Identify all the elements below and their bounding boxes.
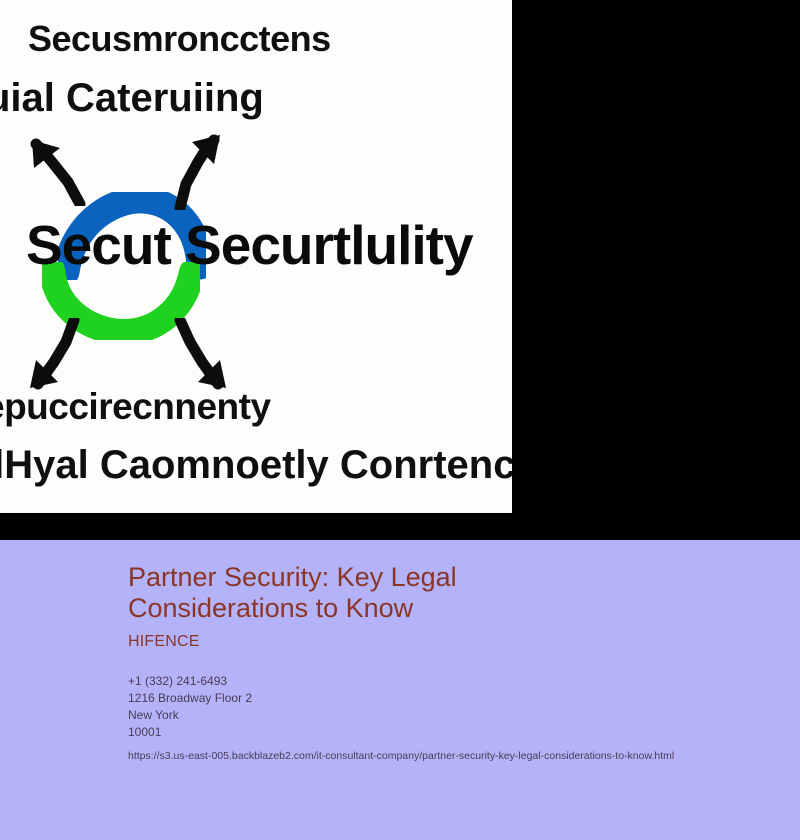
page-root: Secusmroncctens uial Cateruiing Secut Se… <box>0 0 800 840</box>
security-concept-diagram: Secusmroncctens uial Cateruiing Secut Se… <box>0 0 512 513</box>
arrow-up-right-icon <box>166 132 228 210</box>
arrow-up-left-icon <box>24 136 86 206</box>
diagram-bottom-label-1: epuccirecnnenty <box>0 386 271 428</box>
page-title: Partner Security: Key Legal Consideratio… <box>128 562 533 624</box>
contact-street: 1216 Broadway Floor 2 <box>128 690 768 707</box>
source-url-link[interactable]: https://s3.us-east-005.backblazeb2.com/i… <box>128 749 768 763</box>
brand-name: HIFENCE <box>128 633 768 651</box>
arrow-down-left-icon <box>22 318 84 392</box>
contact-city: New York <box>128 707 768 724</box>
info-content: Partner Security: Key Legal Consideratio… <box>128 562 768 763</box>
diagram-top-label-2: uial Cateruiing <box>0 76 264 121</box>
contact-block: +1 (332) 241-6493 1216 Broadway Floor 2 … <box>128 673 768 741</box>
contact-postal-code: 10001 <box>128 724 768 741</box>
diagram-top-label-1: Secusmroncctens <box>28 18 331 60</box>
contact-phone[interactable]: +1 (332) 241-6493 <box>128 673 768 690</box>
info-panel: Partner Security: Key Legal Consideratio… <box>0 540 800 840</box>
diagram-center-label: Secut Securtlulity <box>26 213 473 277</box>
media-stage: Secusmroncctens uial Cateruiing Secut Se… <box>0 0 800 540</box>
arrow-down-right-icon <box>168 318 232 392</box>
diagram-bottom-label-2: ilHyal Caomnoetly Conrtencb <box>0 443 512 488</box>
